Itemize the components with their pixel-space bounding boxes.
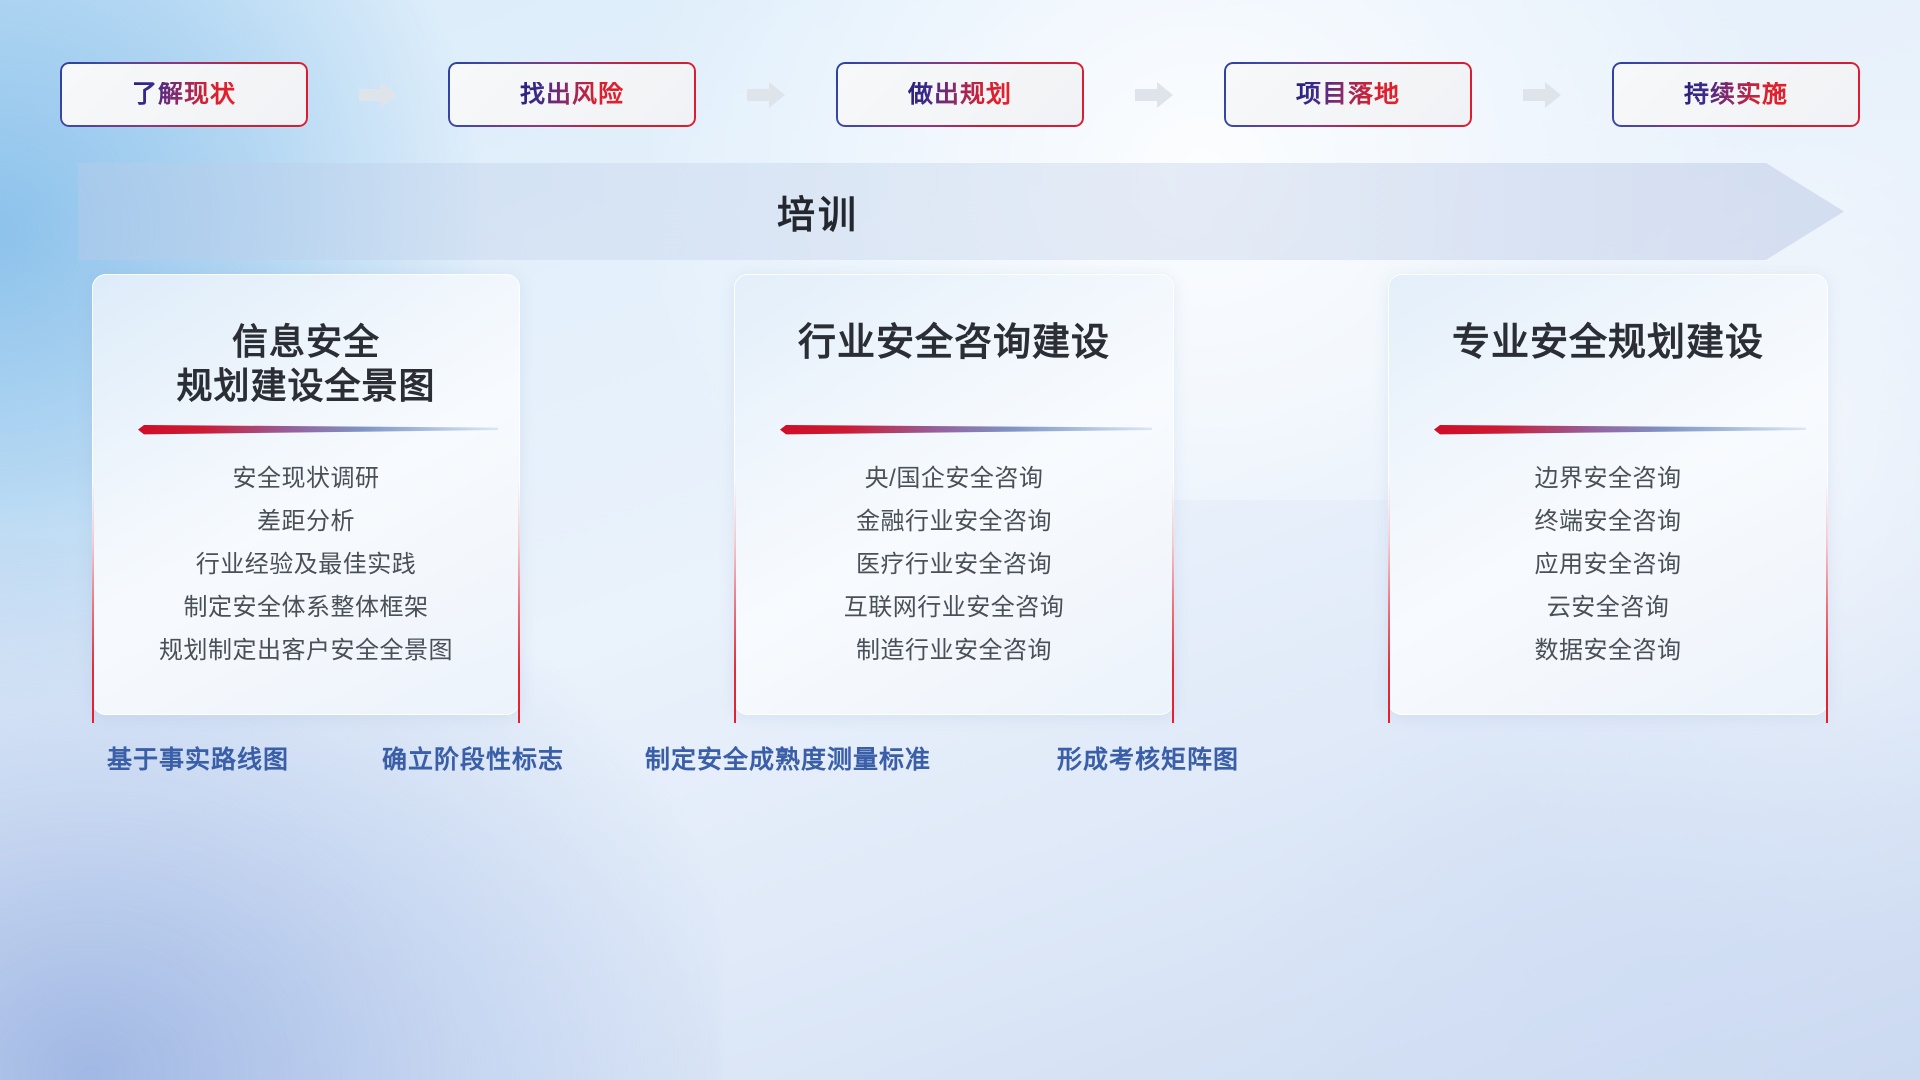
card-item-list: 安全现状调研 差距分析 行业经验及最佳实践 制定安全体系整体框架 规划制定出客户… [114,458,498,672]
list-item: 终端安全咨询 [1535,501,1682,543]
list-item: 云安全咨询 [1547,587,1670,629]
list-item: 数据安全咨询 [1535,630,1682,672]
caption-assessment-matrix: 形成考核矩阵图 [1057,740,1239,776]
step-label-4: 项目落地 [1296,82,1400,107]
list-item: 安全现状调研 [233,458,380,500]
card-item-list: 央/国企安全咨询 金融行业安全咨询 医疗行业安全咨询 互联网行业安全咨询 制造行… [756,458,1152,672]
chevron-right-arrow-icon [1133,80,1175,110]
list-item: 规划制定出客户安全全景图 [159,630,453,672]
step-box-2[interactable]: 找出风险 [448,62,696,127]
caption-roadmap: 基于事实路线图 [107,740,289,776]
card-title: 专业安全规划建设 [1452,320,1764,366]
chevron-right-arrow-icon [745,80,787,110]
card-title-line: 规划建设全景图 [176,364,435,408]
card-group: 信息安全 规划建设全景图 [92,274,1828,715]
step-label-3: 做出规划 [908,82,1012,107]
list-item: 制造行业安全咨询 [856,630,1052,672]
step-box-5[interactable]: 持续实施 [1612,62,1860,127]
list-item: 医疗行业安全咨询 [856,544,1052,586]
card-title: 信息安全 规划建设全景图 [176,320,435,408]
step-box-4[interactable]: 项目落地 [1224,62,1472,127]
card-industry-security-consulting[interactable]: 行业安全咨询建设 [734,274,1174,715]
list-item: 央/国企安全咨询 [865,458,1044,500]
list-item: 应用安全咨询 [1535,544,1682,586]
caption-row: 基于事实路线图 确立阶段性标志 制定安全成熟度测量标准 形成考核矩阵图 [0,740,1920,790]
step-box-1[interactable]: 了解现状 [60,62,308,127]
card-divider [114,424,498,436]
chevron-right-arrow-icon [1521,80,1563,110]
card-divider [1410,424,1806,436]
list-item: 边界安全咨询 [1535,458,1682,500]
list-item: 金融行业安全咨询 [856,501,1052,543]
card-title-line: 行业安全咨询建设 [798,320,1110,366]
caption-milestones: 确立阶段性标志 [382,740,564,776]
chevron-right-arrow-icon [357,80,399,110]
list-item: 制定安全体系整体框架 [184,587,429,629]
card-information-security-blueprint[interactable]: 信息安全 规划建设全景图 [92,274,520,715]
card-professional-security-planning[interactable]: 专业安全规划建设 [1388,274,1828,715]
card-item-list: 边界安全咨询 终端安全咨询 应用安全咨询 云安全咨询 数据安全咨询 [1410,458,1806,672]
card-title-line: 专业安全规划建设 [1452,320,1764,366]
process-step-flow: 了解现状 找出风险 做出规划 项目落地 持续实施 [60,62,1860,127]
list-item: 行业经验及最佳实践 [196,544,417,586]
card-divider [756,424,1152,436]
step-box-3[interactable]: 做出规划 [836,62,1084,127]
list-item: 差距分析 [257,501,355,543]
caption-maturity-standard: 制定安全成熟度测量标准 [645,740,931,776]
training-banner: 培训 [78,163,1844,260]
list-item: 互联网行业安全咨询 [844,587,1065,629]
card-title: 行业安全咨询建设 [798,320,1110,366]
step-label-5: 持续实施 [1684,82,1788,107]
card-title-line: 信息安全 [176,320,435,364]
background-bottomright-glow [1240,660,1920,1080]
training-banner-label: 培训 [78,163,1558,260]
step-label-1: 了解现状 [132,82,236,107]
step-label-2: 找出风险 [520,82,624,107]
